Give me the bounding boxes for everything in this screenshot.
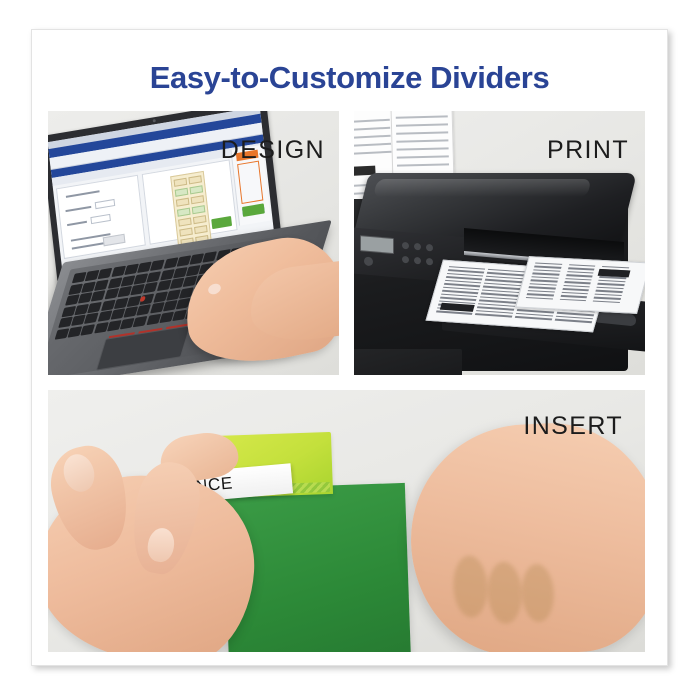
control-button[interactable] xyxy=(414,243,421,251)
webcam-icon xyxy=(152,119,155,122)
form-heading-line xyxy=(66,190,100,198)
power-button[interactable] xyxy=(364,256,373,266)
template-cell xyxy=(189,185,203,194)
template-cell xyxy=(188,175,202,184)
printer-lcd-display xyxy=(360,235,394,254)
printed-divider-sheet xyxy=(515,256,645,314)
template-cell xyxy=(194,225,208,234)
product-feature-card: Easy-to-Customize Dividers xyxy=(31,29,668,666)
rail-preview-outline xyxy=(237,161,263,204)
template-cell xyxy=(178,218,192,227)
page-title: Easy-to-Customize Dividers xyxy=(32,60,667,96)
control-button[interactable] xyxy=(402,256,409,264)
panel-design: DESIGN xyxy=(48,111,339,375)
form-label-line xyxy=(67,221,87,226)
template-cell xyxy=(191,205,205,214)
printer-body xyxy=(354,199,628,371)
template-cell xyxy=(190,195,204,204)
template-cell xyxy=(174,188,188,197)
form-input-1 xyxy=(95,199,116,209)
design-canvas xyxy=(142,159,238,244)
control-button[interactable] xyxy=(414,257,421,265)
panel-label-insert: INSERT xyxy=(523,412,623,441)
panel-label-print: PRINT xyxy=(547,136,629,165)
finger-shadow xyxy=(452,555,489,619)
panel-print: PRINT xyxy=(354,111,645,375)
control-button[interactable] xyxy=(402,242,409,250)
control-button[interactable] xyxy=(426,258,433,266)
finger-shadow xyxy=(486,561,523,625)
panel-label-design: DESIGN xyxy=(221,136,325,165)
right-hand xyxy=(405,418,645,652)
touchpad xyxy=(96,325,191,370)
form-input-2 xyxy=(90,214,111,224)
rail-primary-button xyxy=(242,203,265,217)
printer-front-panel xyxy=(354,349,462,375)
form-label-line xyxy=(65,206,91,212)
panel-insert: FINANCE INSERT xyxy=(48,390,645,652)
canvas-primary-button xyxy=(211,216,232,229)
control-button[interactable] xyxy=(426,244,433,252)
template-cell xyxy=(179,228,193,237)
lid-highlight xyxy=(373,179,591,197)
template-cell xyxy=(192,215,206,224)
template-cell xyxy=(176,208,190,217)
design-form-panel xyxy=(56,175,146,259)
template-cell xyxy=(173,178,187,187)
touchpad-button-line xyxy=(109,332,135,338)
touchpad-button-line xyxy=(138,328,162,334)
finger-shadow xyxy=(520,563,555,623)
template-cell xyxy=(175,198,189,207)
